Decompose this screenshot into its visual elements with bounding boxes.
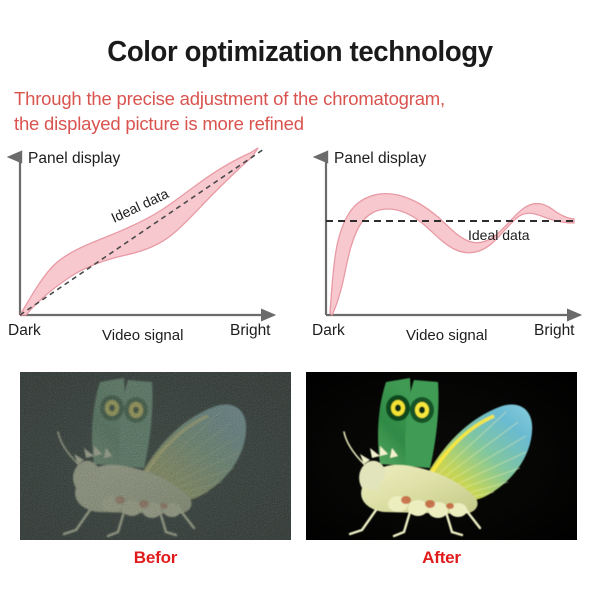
photo-before-content xyxy=(20,372,291,540)
y-axis-label: Panel display xyxy=(334,150,426,167)
chart-after: Ideal data Panel display Dark Video sign… xyxy=(302,145,598,357)
photo-after-content xyxy=(306,372,577,540)
x-axis-start-label: Dark xyxy=(8,322,41,339)
y-axis-label: Panel display xyxy=(28,150,120,167)
page-title: Color optimization technology xyxy=(15,36,585,69)
page-root: Color optimization technology Through th… xyxy=(0,0,600,600)
photo-after xyxy=(306,372,577,540)
deviation-band xyxy=(20,148,258,315)
subtitle-line-1: Through the precise adjustment of the ch… xyxy=(14,86,589,111)
x-axis-end-label: Bright xyxy=(230,322,271,339)
x-axis-label: Video signal xyxy=(406,327,487,344)
caption-before: Befor xyxy=(20,548,291,568)
subtitle-line-2: the displayed picture is more refined xyxy=(14,111,589,136)
x-axis-end-label: Bright xyxy=(534,322,575,339)
ideal-data-label: Ideal data xyxy=(468,227,530,243)
x-axis-label: Video signal xyxy=(102,327,183,344)
chart-before: Ideal data Panel display Dark Video sign… xyxy=(2,145,298,357)
x-axis-start-label: Dark xyxy=(312,322,345,339)
caption-after: After xyxy=(306,548,577,568)
photo-before xyxy=(20,372,291,540)
page-subtitle: Through the precise adjustment of the ch… xyxy=(14,86,589,136)
deviation-band xyxy=(330,194,574,315)
